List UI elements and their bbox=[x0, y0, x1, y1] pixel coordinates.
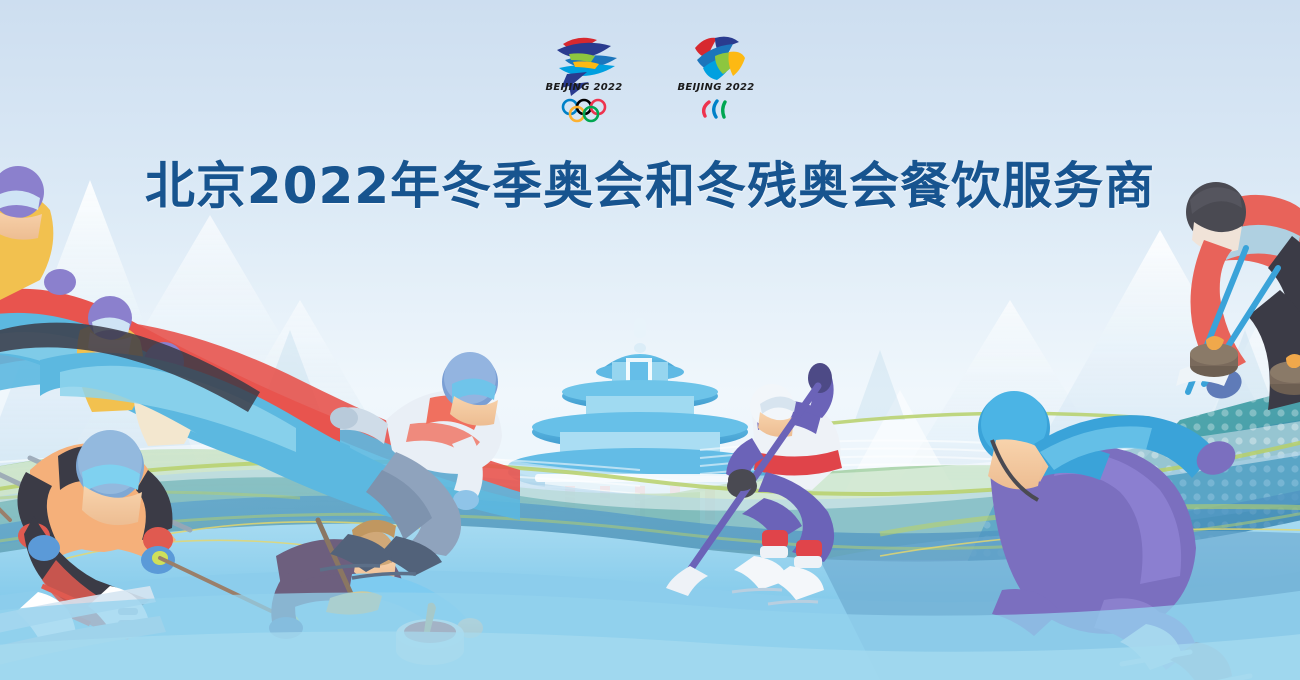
page-title: 北京2022年冬季奥会和冬残奥会餐饮服务商 bbox=[0, 146, 1300, 218]
athlete-ice-hockey-player bbox=[666, 363, 842, 604]
beijing-2022-banner: BEIJING 2022 bbox=[0, 0, 1300, 680]
olympic-emblem: BEIJING 2022 bbox=[539, 30, 629, 135]
flight-mark bbox=[695, 37, 745, 80]
paralympic-wordmark: BEIJING 2022 bbox=[671, 82, 761, 93]
emblem-row: BEIJING 2022 bbox=[0, 30, 1300, 135]
olympic-rings-icon bbox=[539, 98, 629, 124]
olympic-wordmark: BEIJING 2022 bbox=[539, 82, 629, 93]
paralympic-emblem: BEIJING 2022 bbox=[671, 30, 761, 135]
agitos-icon bbox=[671, 98, 761, 124]
